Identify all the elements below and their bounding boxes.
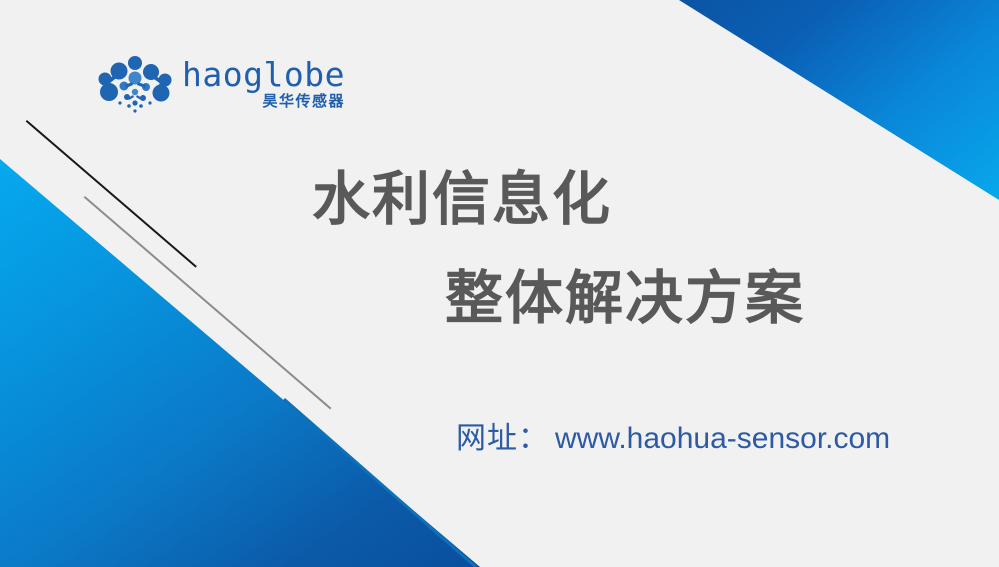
logo-text-group: haoglobe 昊华传感器 <box>182 56 345 109</box>
top-right-triangle-decoration <box>679 0 999 200</box>
logo-subtitle: 昊华传感器 <box>262 94 345 109</box>
logo-wordmark: haoglobe <box>182 58 345 91</box>
company-logo: haoglobe 昊华传感器 <box>96 56 345 114</box>
website-line: 网址： www.haohua-sensor.com <box>456 421 890 457</box>
website-label: 网址： <box>456 421 549 457</box>
title-slide: haoglobe 昊华传感器 水利信息化 整体解决方案 网址： www.haoh… <box>0 0 999 567</box>
website-url[interactable]: www.haohua-sensor.com <box>555 421 890 457</box>
slide-title-line-1: 水利信息化 <box>312 168 612 232</box>
slide-title-line-2: 整体解决方案 <box>445 267 805 331</box>
network-nodes-icon <box>96 56 174 114</box>
